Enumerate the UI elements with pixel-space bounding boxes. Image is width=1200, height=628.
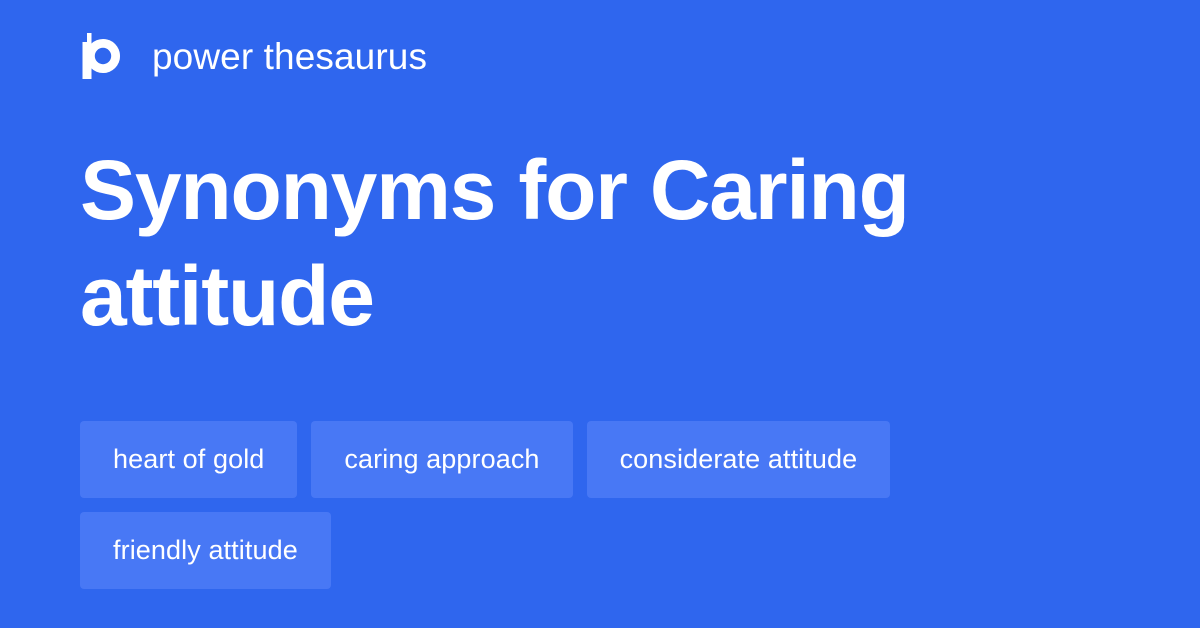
synonym-chip[interactable]: considerate attitude <box>587 421 891 498</box>
brand-name: power thesaurus <box>152 38 427 75</box>
synonym-chip[interactable]: caring approach <box>311 421 572 498</box>
synonym-chip-list: heart of gold caring approach considerat… <box>80 421 1120 589</box>
power-thesaurus-logo-icon <box>80 31 130 81</box>
synonym-chip[interactable]: friendly attitude <box>80 512 331 589</box>
synonyms-share-card: power thesaurus Synonyms for Caring atti… <box>0 0 1200 628</box>
brand-header[interactable]: power thesaurus <box>80 28 427 84</box>
page-title: Synonyms for Caring attitude <box>80 138 1120 350</box>
synonym-chip[interactable]: heart of gold <box>80 421 297 498</box>
